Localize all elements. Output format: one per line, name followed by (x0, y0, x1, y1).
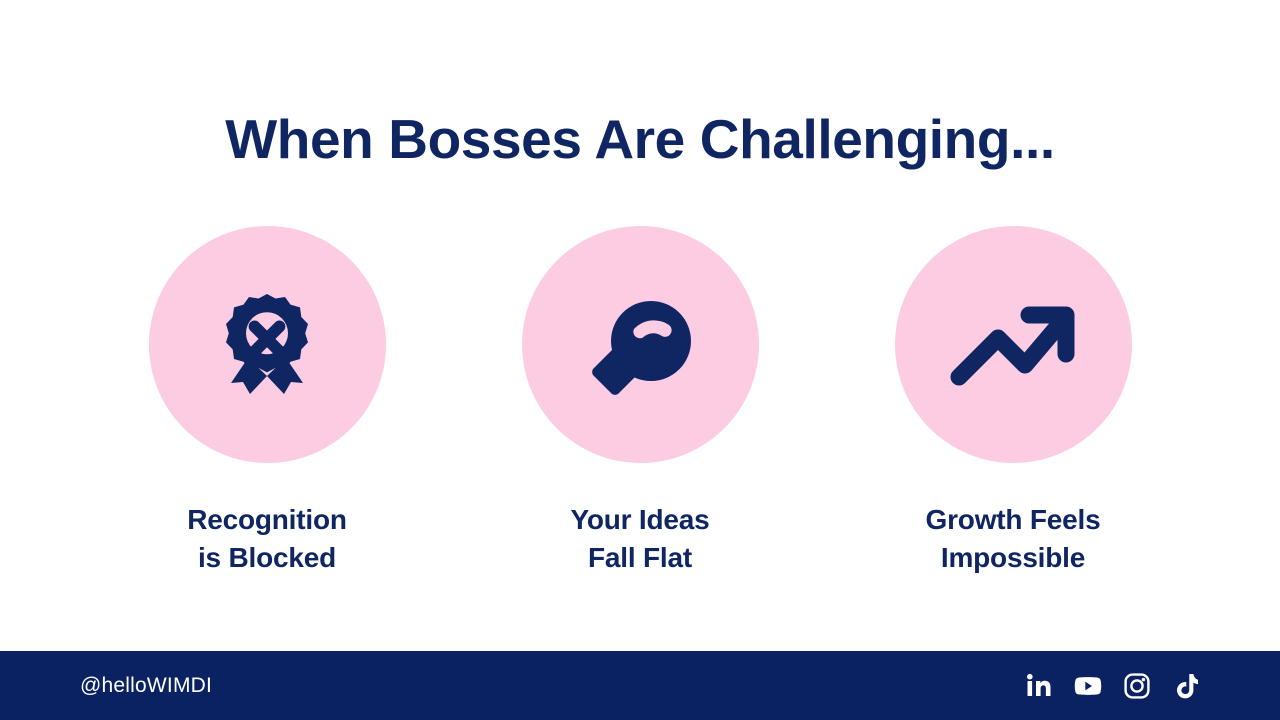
card-recognition-is-blocked: Recognition is Blocked (149, 226, 386, 576)
tiktok-icon[interactable] (1172, 672, 1200, 700)
card-caption-3-line1: Growth Feels (926, 504, 1101, 535)
card-caption-2-line2: Fall Flat (570, 539, 709, 577)
award-x-icon (217, 290, 317, 400)
card-caption-1: Recognition is Blocked (187, 501, 347, 576)
card-your-ideas-fall-flat: Your Ideas Fall Flat (522, 226, 759, 576)
card-row: Recognition is Blocked Your I (0, 226, 1280, 576)
social-handle: @helloWIMDI (80, 674, 212, 698)
card-caption-1-line1: Recognition (187, 504, 347, 535)
card-caption-3: Growth Feels Impossible (926, 501, 1101, 576)
social-links (1025, 672, 1200, 700)
instagram-icon[interactable] (1123, 672, 1151, 700)
icon-circle-1 (149, 226, 386, 463)
lightbulb-icon (581, 295, 699, 395)
card-caption-1-line2: is Blocked (187, 539, 347, 577)
card-growth-feels-impossible: Growth Feels Impossible (895, 226, 1132, 576)
card-caption-2-line1: Your Ideas (570, 504, 709, 535)
icon-circle-2 (522, 226, 759, 463)
slide-canvas: When Bosses Are Challenging... (0, 0, 1280, 720)
card-caption-3-line2: Impossible (926, 539, 1101, 577)
card-caption-2: Your Ideas Fall Flat (570, 501, 709, 576)
linkedin-icon[interactable] (1025, 672, 1053, 700)
youtube-icon[interactable] (1074, 672, 1102, 700)
icon-circle-3 (895, 226, 1132, 463)
trending-up-arrow-icon (950, 304, 1076, 386)
footer-bar: @helloWIMDI (0, 651, 1280, 720)
page-title: When Bosses Are Challenging... (0, 109, 1280, 170)
